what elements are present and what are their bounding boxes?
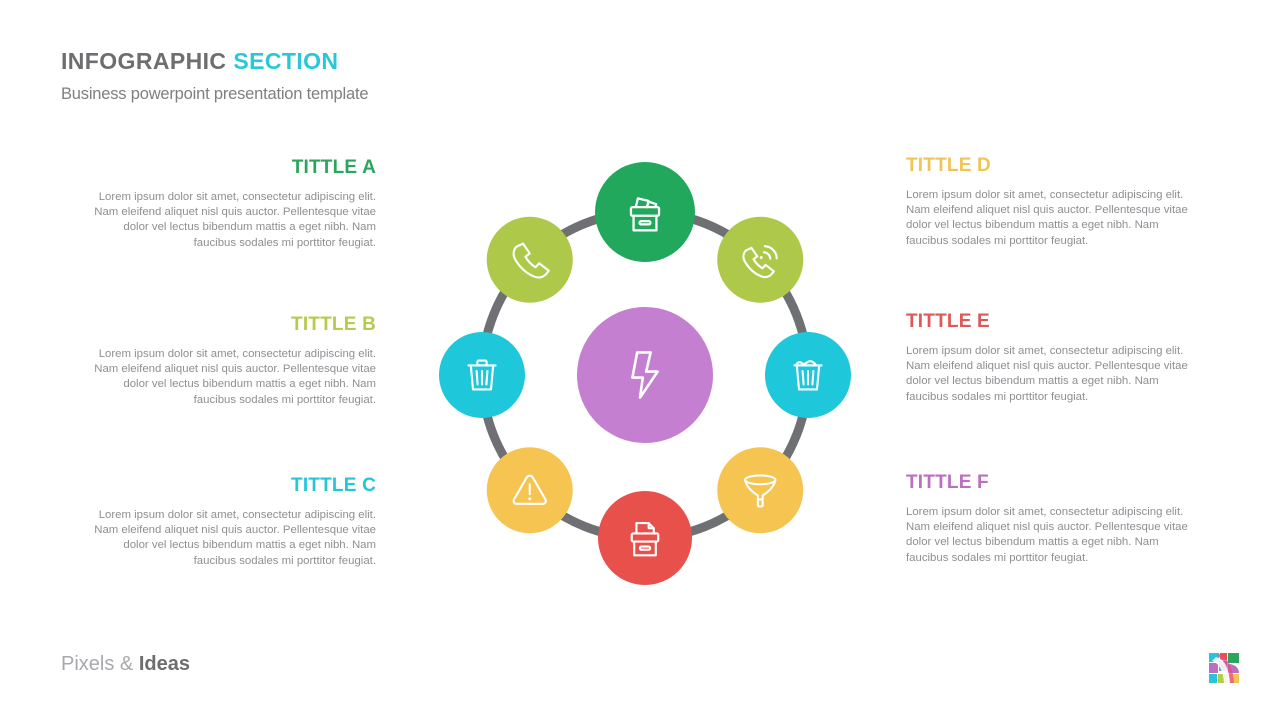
page-title-primary: INFOGRAPHIC (61, 48, 226, 74)
text-block-c-title: TITTLE C (88, 476, 376, 495)
circular-process-diagram (400, 130, 890, 620)
node-funnel[interactable] (717, 447, 803, 533)
footer-brand-primary: Pixels & (61, 653, 133, 675)
node-phone-handset[interactable] (487, 217, 573, 303)
text-block-d: TITTLE D Lorem ipsum dolor sit amet, con… (906, 156, 1194, 249)
node-archive-document[interactable] (598, 491, 692, 585)
slide-header: INFOGRAPHICSECTION Business powerpoint p… (61, 50, 368, 103)
mosaic-logo (1207, 651, 1241, 685)
page-title: INFOGRAPHICSECTION (61, 50, 368, 73)
text-block-d-body: Lorem ipsum dolor sit amet, consectetur … (906, 188, 1194, 249)
footer-brand-secondary: Ideas (139, 653, 190, 675)
page-title-accent: SECTION (233, 48, 338, 74)
text-block-d-title: TITTLE D (906, 156, 1194, 175)
node-trash-left[interactable] (439, 332, 525, 418)
text-block-e-title: TITTLE E (906, 312, 1194, 331)
trash-can-icon (794, 361, 821, 389)
text-block-f-body: Lorem ipsum dolor sit amet, consectetur … (906, 505, 1194, 566)
text-block-c: TITTLE C Lorem ipsum dolor sit amet, con… (88, 476, 376, 569)
text-block-b-body: Lorem ipsum dolor sit amet, consectetur … (88, 347, 376, 408)
text-block-e: TITTLE E Lorem ipsum dolor sit amet, con… (906, 312, 1194, 405)
text-block-b-title: TITTLE B (88, 315, 376, 334)
node-warning[interactable] (487, 447, 573, 533)
text-block-f: TITTLE F Lorem ipsum dolor sit amet, con… (906, 473, 1194, 566)
node-archive-box[interactable] (595, 162, 695, 262)
footer-brand: Pixels & Ideas (61, 654, 190, 674)
node-trash-right[interactable] (765, 332, 851, 418)
slide-canvas: INFOGRAPHICSECTION Business powerpoint p… (0, 0, 1280, 720)
text-block-e-body: Lorem ipsum dolor sit amet, consectetur … (906, 344, 1194, 405)
text-block-a: TITTLE A Lorem ipsum dolor sit amet, con… (88, 158, 376, 251)
text-block-c-body: Lorem ipsum dolor sit amet, consectetur … (88, 508, 376, 569)
text-block-a-body: Lorem ipsum dolor sit amet, consectetur … (88, 190, 376, 251)
node-center-energy[interactable] (577, 307, 713, 443)
node-phone-ringing[interactable] (717, 217, 803, 303)
text-block-b: TITTLE B Lorem ipsum dolor sit amet, con… (88, 315, 376, 408)
page-subtitle: Business powerpoint presentation templat… (61, 86, 368, 103)
text-block-f-title: TITTLE F (906, 473, 1194, 492)
text-block-a-title: TITTLE A (88, 158, 376, 177)
trash-can-icon (468, 361, 495, 390)
